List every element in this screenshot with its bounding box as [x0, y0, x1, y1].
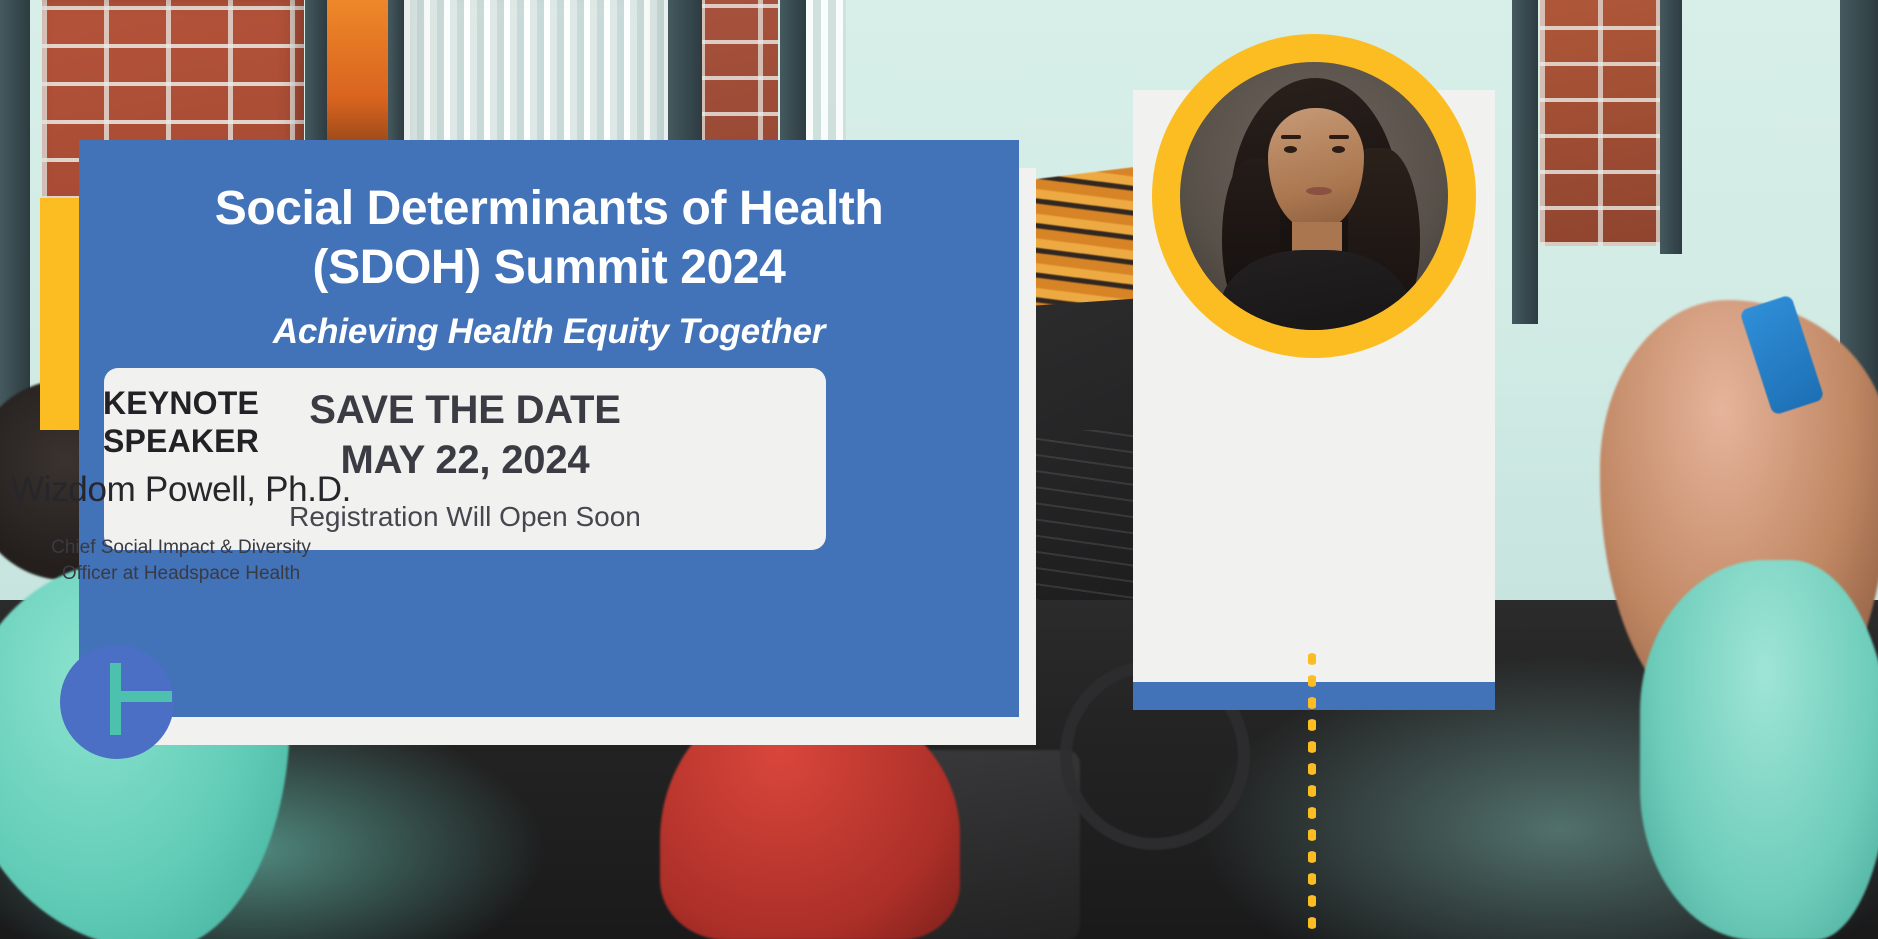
portrait-eyebrow-right [1329, 135, 1349, 139]
keynote-speaker-label: KEYNOTE SPEAKER [0, 385, 362, 461]
portrait-eyebrow-left [1281, 135, 1301, 139]
portrait-lips [1306, 187, 1332, 195]
event-title-line-2: (SDOH) Summit 2024 [117, 239, 981, 298]
portrait-eye-left [1284, 146, 1297, 153]
event-tagline: Achieving Health Equity Together [117, 309, 981, 355]
speaker-role: Chief Social Impact & Diversity Officer … [0, 535, 362, 587]
keynote-label-line-1: KEYNOTE [0, 385, 362, 423]
yellow-dotted-divider [1308, 648, 1316, 939]
keynote-label-line-2: SPEAKER [0, 423, 362, 461]
speaker-name: Wizdom Powell, Ph.D. [0, 470, 362, 510]
background-person-right-clothing [1640, 560, 1878, 939]
background-window-frame [1660, 0, 1682, 254]
logo-horizontal-stroke [110, 691, 172, 702]
organization-logo-icon [60, 645, 174, 759]
event-title-line-1: Social Determinants of Health [117, 180, 981, 239]
event-title: Social Determinants of Health (SDOH) Sum… [117, 180, 981, 297]
portrait-eye-right [1332, 146, 1345, 153]
speaker-portrait-photo [1180, 62, 1448, 330]
speaker-role-line-1: Chief Social Impact & Diversity [0, 535, 362, 561]
speaker-portrait-ring [1152, 34, 1476, 358]
background-brick-column-right [1540, 0, 1660, 246]
background-window-frame [1512, 0, 1538, 324]
speaker-role-line-2: Officer at Headspace Health [0, 561, 362, 587]
